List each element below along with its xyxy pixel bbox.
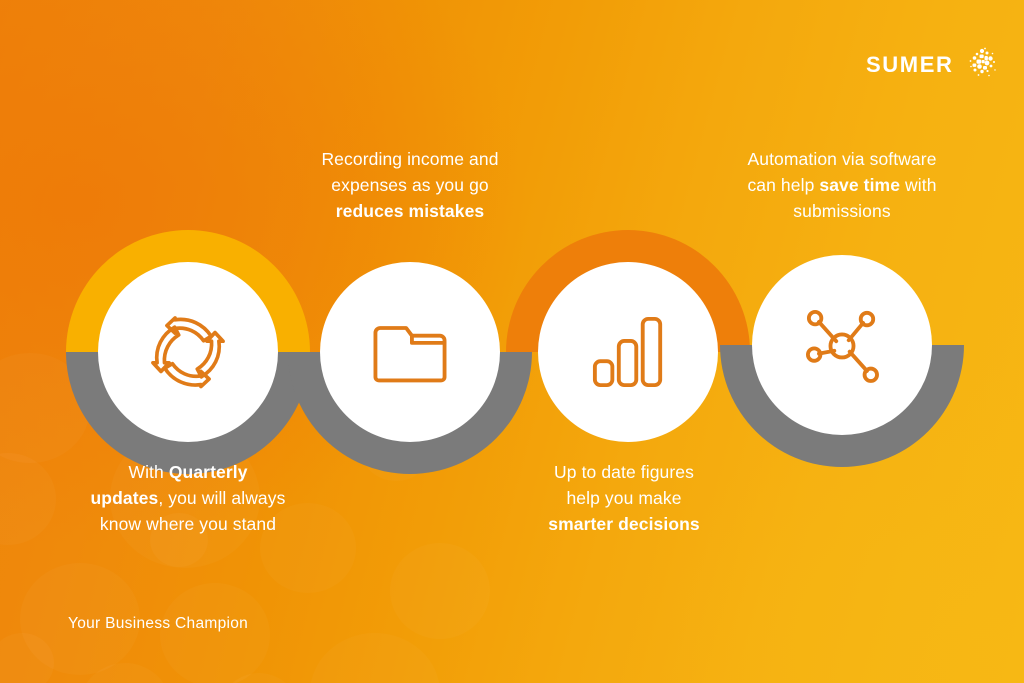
caption-line: smarter decisions	[494, 511, 754, 537]
watermark-blob	[0, 453, 56, 545]
caption-line: reduces mistakes	[280, 198, 540, 224]
node-reduces-mistakes	[320, 262, 500, 442]
caption-line: help you make	[494, 485, 754, 511]
watermark-blob	[390, 543, 490, 639]
caption-emphasis: reduces mistakes	[336, 201, 485, 221]
sumer-logo: SUMER	[866, 48, 1001, 82]
caption-quarterly-updates: With Quarterlyupdates, you will alwayskn…	[58, 459, 318, 537]
caption-line: know where you stand	[58, 511, 318, 537]
infographic-canvas: SUMER	[0, 0, 1024, 683]
caption-text: Recording income and	[321, 149, 498, 169]
logo-wordmark: SUMER	[866, 54, 953, 76]
caption-emphasis: smarter decisions	[548, 514, 700, 534]
caption-text: With	[128, 462, 168, 482]
caption-smarter-decisions: Up to date figureshelp you makesmarter d…	[494, 459, 754, 537]
caption-text: Automation via software	[747, 149, 936, 169]
caption-text: with	[900, 175, 936, 195]
caption-reduces-mistakes: Recording income andexpenses as you gore…	[280, 146, 540, 224]
sumer-dot-cluster-mark	[961, 42, 1001, 82]
footer-tagline: Your Business Champion	[68, 615, 248, 633]
caption-line: Automation via software	[712, 146, 972, 172]
caption-line: Recording income and	[280, 146, 540, 172]
caption-line: With Quarterly	[58, 459, 318, 485]
caption-emphasis: Quarterly	[169, 462, 248, 482]
caption-text: know where you stand	[100, 514, 276, 534]
caption-text: expenses as you go	[331, 175, 488, 195]
caption-line: submissions	[712, 198, 972, 224]
caption-text: submissions	[793, 201, 890, 221]
caption-text: , you will always	[158, 488, 285, 508]
caption-emphasis: updates	[91, 488, 159, 508]
node-save-time	[752, 255, 932, 435]
caption-emphasis: save time	[819, 175, 900, 195]
caption-line: expenses as you go	[280, 172, 540, 198]
caption-text: Up to date figures	[554, 462, 694, 482]
watermark-blob	[310, 633, 440, 683]
caption-text: help you make	[566, 488, 681, 508]
caption-line: can help save time with	[712, 172, 972, 198]
bar-chart-icon	[538, 262, 718, 442]
node-smarter-decisions	[538, 262, 718, 442]
node-quarterly-updates	[98, 262, 278, 442]
caption-text: can help	[747, 175, 819, 195]
watermark-blob	[160, 583, 270, 683]
caption-line: Up to date figures	[494, 459, 754, 485]
network-hub-icon	[752, 255, 932, 435]
caption-line: updates, you will always	[58, 485, 318, 511]
folder-icon	[320, 262, 500, 442]
caption-save-time: Automation via softwarecan help save tim…	[712, 146, 972, 224]
cycle-arrows-icon	[98, 262, 278, 442]
